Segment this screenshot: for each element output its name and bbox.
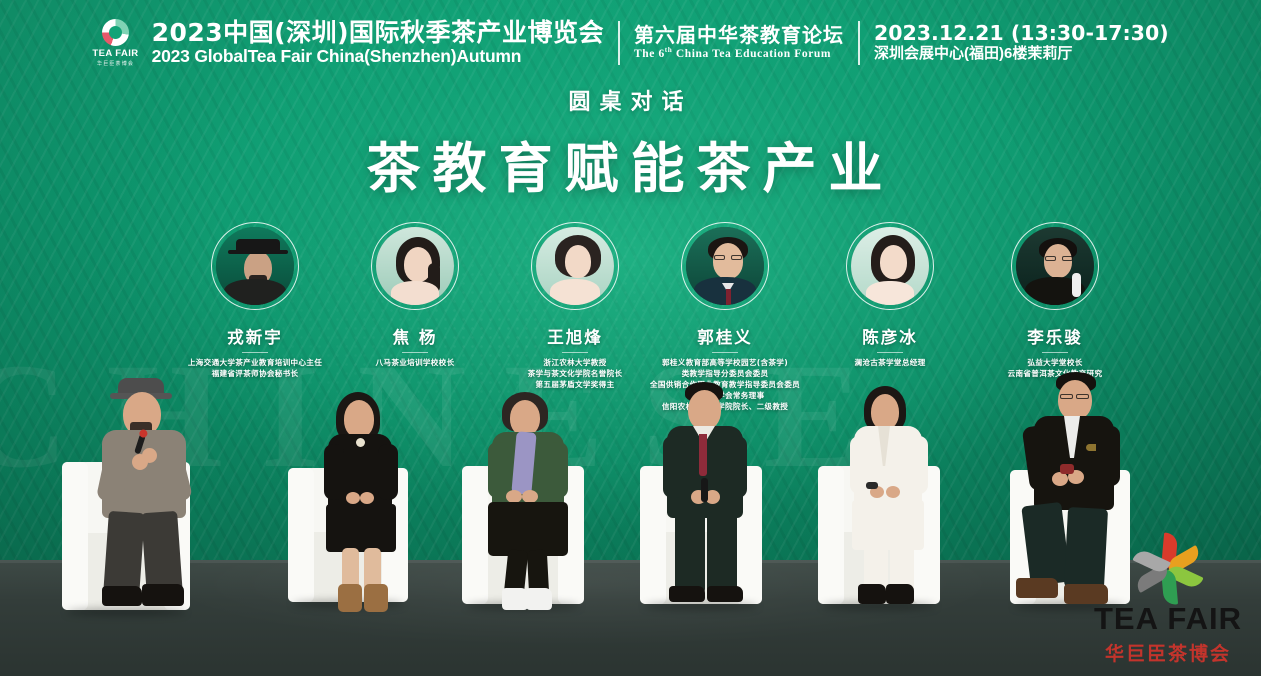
event-venue: 深圳会展中心(福田)6楼茉莉厅	[874, 46, 1169, 63]
speaker-card-3: 王旭烽 浙江农林大学教授 茶学与茶文化学院名誉院长 第五届茅盾文学奖得主	[490, 222, 660, 390]
speaker-rule-3	[562, 352, 588, 353]
avatar	[1016, 227, 1094, 305]
event-header-bar: TEA FAIR 华巨臣茶博会 2023中国(深圳)国际秋季茶产业博览会 202…	[0, 12, 1261, 74]
speaker-rule-1	[242, 352, 268, 353]
speaker-rule-6	[1042, 352, 1068, 353]
avatar	[216, 227, 294, 305]
tea-fair-logo-icon	[102, 19, 129, 46]
speaker-portrait-ring-6	[1011, 222, 1099, 310]
speaker-portrait-ring-3	[531, 222, 619, 310]
speaker-titles-5: 澜沧古茶学堂总经理	[805, 357, 975, 368]
header-segment-fair: 2023中国(深圳)国际秋季茶产业博览会 2023 GlobalTea Fair…	[152, 20, 604, 67]
header-divider-1	[618, 21, 620, 65]
corner-logo-cn: 华巨臣茶博会	[1093, 639, 1243, 666]
fair-title-cn: 2023中国(深圳)国际秋季茶产业博览会	[152, 20, 604, 47]
speaker-portrait-ring-5	[846, 222, 934, 310]
avatar	[376, 227, 454, 305]
header-logo-cn: 华巨臣茶博会	[97, 60, 134, 67]
avatar	[536, 227, 614, 305]
avatar	[851, 227, 929, 305]
speaker-title-line: 茶学与茶文化学院名誉院长	[490, 368, 660, 379]
panelist-1	[80, 378, 230, 618]
header-segment-datetime: 2023.12.21 (13:30-17:30) 深圳会展中心(福田)6楼茉莉厅	[874, 23, 1169, 62]
speaker-card-6: 李乐骏 弘益大学堂校长 云南省普洱茶文化教育研究	[970, 222, 1140, 379]
speaker-title-line: 浙江农林大学教授	[490, 357, 660, 368]
speaker-card-1: 戎新宇 上海交通大学茶产业教育培训中心主任 福建省评茶师协会秘书长	[170, 222, 340, 379]
header-logo-text: TEA FAIR	[92, 48, 138, 59]
speaker-title-line: 上海交通大学茶产业教育培训中心主任	[170, 357, 340, 368]
speaker-portrait-ring-1	[211, 222, 299, 310]
speaker-rule-5	[877, 352, 903, 353]
header-divider-2	[858, 21, 860, 65]
panelist-4	[655, 382, 773, 618]
speaker-portrait-ring-2	[371, 222, 459, 310]
speaker-card-5: 陈彦冰 澜沧古茶学堂总经理	[805, 222, 975, 368]
panelist-5	[840, 386, 952, 618]
header-logo: TEA FAIR 华巨臣茶博会	[92, 19, 138, 67]
panelist-3	[480, 392, 598, 616]
speaker-title-line: 澜沧古茶学堂总经理	[805, 357, 975, 368]
speaker-name-5: 陈彦冰	[805, 324, 975, 348]
speaker-titles-2: 八马茶业培训学校校长	[330, 357, 500, 368]
panelist-2	[312, 392, 422, 614]
speaker-title-line: 八马茶业培训学校校长	[330, 357, 500, 368]
speaker-name-1: 戎新宇	[170, 324, 340, 348]
avatar	[686, 227, 764, 305]
forum-title-en: The 6th China Tea Education Forum	[634, 47, 844, 60]
speaker-title-line: 类教学指导分委员会委员	[640, 368, 810, 379]
speaker-title-line: 弘益大学堂校长	[970, 357, 1140, 368]
speaker-titles-1: 上海交通大学茶产业教育培训中心主任 福建省评茶师协会秘书长	[170, 357, 340, 379]
speaker-title-line: 第五届茅盾文学奖得主	[490, 379, 660, 390]
corner-logo-text: TEA FAIR	[1093, 603, 1243, 634]
speaker-titles-3: 浙江农林大学教授 茶学与茶文化学院名誉院长 第五届茅盾文学奖得主	[490, 357, 660, 390]
forum-title-cn: 第六届中华茶教育论坛	[634, 25, 844, 46]
speaker-card-2: 焦 杨 八马茶业培训学校校长	[330, 222, 500, 368]
conference-stage-photo: CHINESE TEA FAIR 华巨臣茶博会 2023中国(深圳)国际秋季茶产…	[0, 0, 1261, 676]
speaker-title-line: 郭桂义教育部高等学校园艺(含茶学)	[640, 357, 810, 368]
speaker-rule-4	[712, 352, 738, 353]
fair-title-en: 2023 GlobalTea Fair China(Shenzhen)Autum…	[152, 47, 604, 66]
speaker-name-2: 焦 杨	[330, 324, 500, 348]
speaker-name-4: 郭桂义	[640, 324, 810, 348]
speaker-name-3: 王旭烽	[490, 324, 660, 348]
speaker-rule-2	[402, 352, 428, 353]
session-main-title: 茶教育赋能茶产业	[0, 124, 1261, 203]
speaker-portrait-ring-4	[681, 222, 769, 310]
corner-brand-logo: TEA FAIR 华巨臣茶博会	[1093, 523, 1243, 666]
speaker-name-6: 李乐骏	[970, 324, 1140, 348]
event-datetime: 2023.12.21 (13:30-17:30)	[874, 23, 1169, 45]
session-subtitle: 圆桌对话	[0, 84, 1261, 116]
tea-fair-pinwheel-icon	[1129, 523, 1207, 601]
header-segment-forum: 第六届中华茶教育论坛 The 6th China Tea Education F…	[634, 25, 844, 61]
